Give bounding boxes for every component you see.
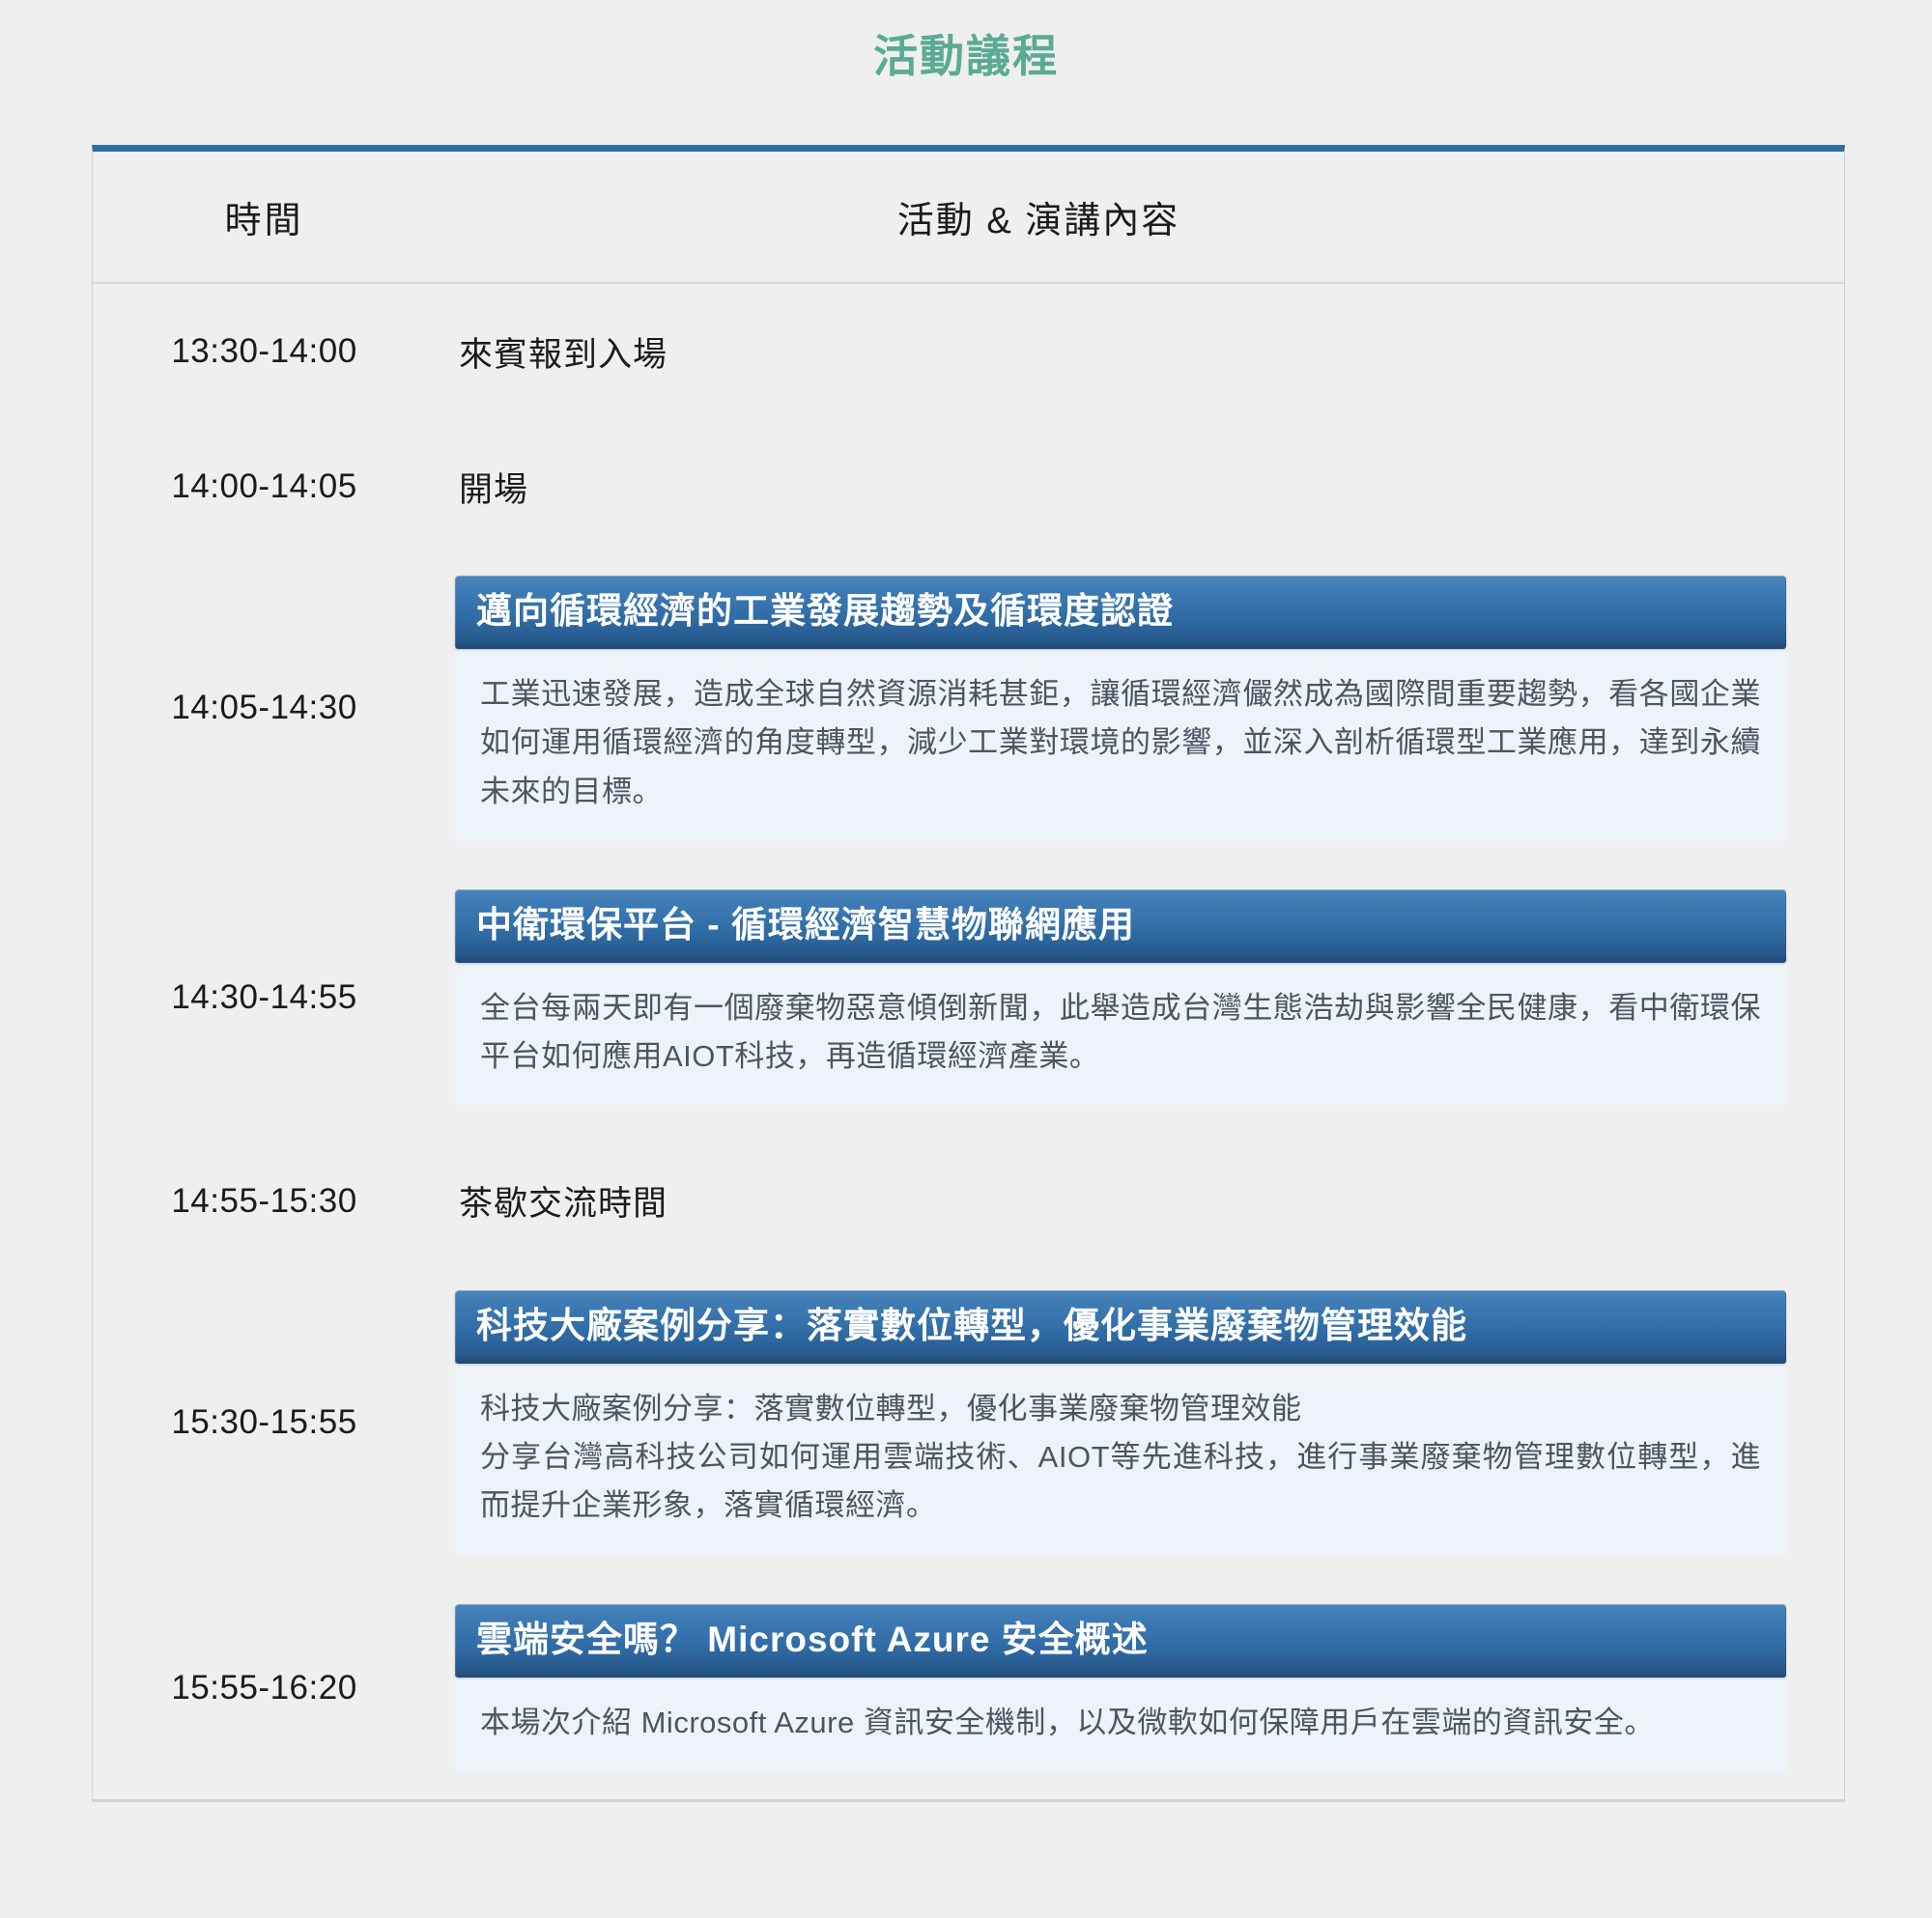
agenda-row-label: 來賓報到入場 <box>459 327 668 377</box>
column-header-content: 活動 & 演講內容 <box>436 190 1844 243</box>
agenda-table: 時間 活動 & 演講內容 13:30-14:00來賓報到入場14:00-14:0… <box>92 145 1845 1800</box>
agenda-row-label: 開場 <box>459 463 528 512</box>
column-header-time: 時間 <box>93 190 436 243</box>
session-description-line: 科技大廠案例分享：落實數位轉型，優化事業廢棄物管理效能 <box>480 1385 1761 1433</box>
agenda-row-time: 14:00-14:05 <box>93 419 436 554</box>
page-title: 活動議程 <box>0 29 1932 85</box>
session-description-line: 分享台灣高科技公司如何運用雲端技術、AIOT等先進科技，進行事業廢棄物管理數位轉… <box>480 1433 1761 1530</box>
agenda-row-content: 開場 <box>436 419 1844 554</box>
agenda-table-header: 時間 活動 & 演講內容 <box>93 152 1844 284</box>
agenda-table-body: 13:30-14:00來賓報到入場14:00-14:05開場14:05-14:3… <box>93 284 1844 1799</box>
agenda-row: 13:30-14:00來賓報到入場 <box>93 284 1844 419</box>
agenda-row: 14:00-14:05開場 <box>93 419 1844 554</box>
session-title-banner: 雲端安全嗎？ Microsoft Azure 安全概述 <box>455 1604 1786 1678</box>
agenda-row-content: 中衛環保平台 - 循環經濟智慧物聯網應用全台每兩天即有一個廢棄物惡意傾倒新聞，此… <box>436 889 1844 1107</box>
agenda-row-time: 14:30-14:55 <box>93 889 436 1107</box>
agenda-row: 15:30-15:55科技大廠案例分享：落實數位轉型，優化事業廢棄物管理效能科技… <box>93 1269 1844 1583</box>
agenda-row: 14:05-14:30邁向循環經濟的工業發展趨勢及循環度認證工業迅速發展，造成全… <box>93 554 1844 868</box>
agenda-row: 15:55-16:20雲端安全嗎？ Microsoft Azure 安全概述本場… <box>93 1583 1844 1799</box>
session-description: 全台每兩天即有一個廢棄物惡意傾倒新聞，此舉造成台灣生態浩劫與影響全民健康，看中衛… <box>455 963 1786 1106</box>
agenda-row-label: 茶歇交流時間 <box>459 1176 668 1226</box>
agenda-page: 活動議程 時間 活動 & 演講內容 13:30-14:00來賓報到入場14:00… <box>0 0 1932 1918</box>
agenda-row-content: 來賓報到入場 <box>436 284 1844 419</box>
agenda-row-time: 15:30-15:55 <box>93 1290 436 1556</box>
session-description: 工業迅速發展，造成全球自然資源消耗甚鉅，讓循環經濟儼然成為國際間重要趨勢，看各國… <box>455 649 1786 841</box>
agenda-row-time: 14:55-15:30 <box>93 1134 436 1269</box>
session-description: 科技大廠案例分享：落實數位轉型，優化事業廢棄物管理效能分享台灣高科技公司如何運用… <box>455 1364 1786 1556</box>
session-title-banner: 邁向循環經濟的工業發展趨勢及循環度認證 <box>455 576 1786 649</box>
agenda-row-content: 雲端安全嗎？ Microsoft Azure 安全概述本場次介紹 Microso… <box>436 1604 1844 1772</box>
agenda-row-content: 科技大廠案例分享：落實數位轉型，優化事業廢棄物管理效能科技大廠案例分享：落實數位… <box>436 1290 1844 1556</box>
agenda-row-content: 茶歇交流時間 <box>436 1134 1844 1269</box>
agenda-row-time: 15:55-16:20 <box>93 1604 436 1772</box>
agenda-row-time: 14:05-14:30 <box>93 576 436 841</box>
agenda-row-content: 邁向循環經濟的工業發展趨勢及循環度認證工業迅速發展，造成全球自然資源消耗甚鉅，讓… <box>436 576 1844 841</box>
agenda-row: 14:55-15:30茶歇交流時間 <box>93 1134 1844 1269</box>
session-title-banner: 中衛環保平台 - 循環經濟智慧物聯網應用 <box>455 889 1786 963</box>
session-title-banner: 科技大廠案例分享：落實數位轉型，優化事業廢棄物管理效能 <box>455 1290 1786 1364</box>
agenda-row: 14:30-14:55中衛環保平台 - 循環經濟智慧物聯網應用全台每兩天即有一個… <box>93 868 1844 1134</box>
session-description: 本場次介紹 Microsoft Azure 資訊安全機制，以及微軟如何保障用戶在… <box>455 1678 1786 1772</box>
agenda-row-time: 13:30-14:00 <box>93 284 436 419</box>
